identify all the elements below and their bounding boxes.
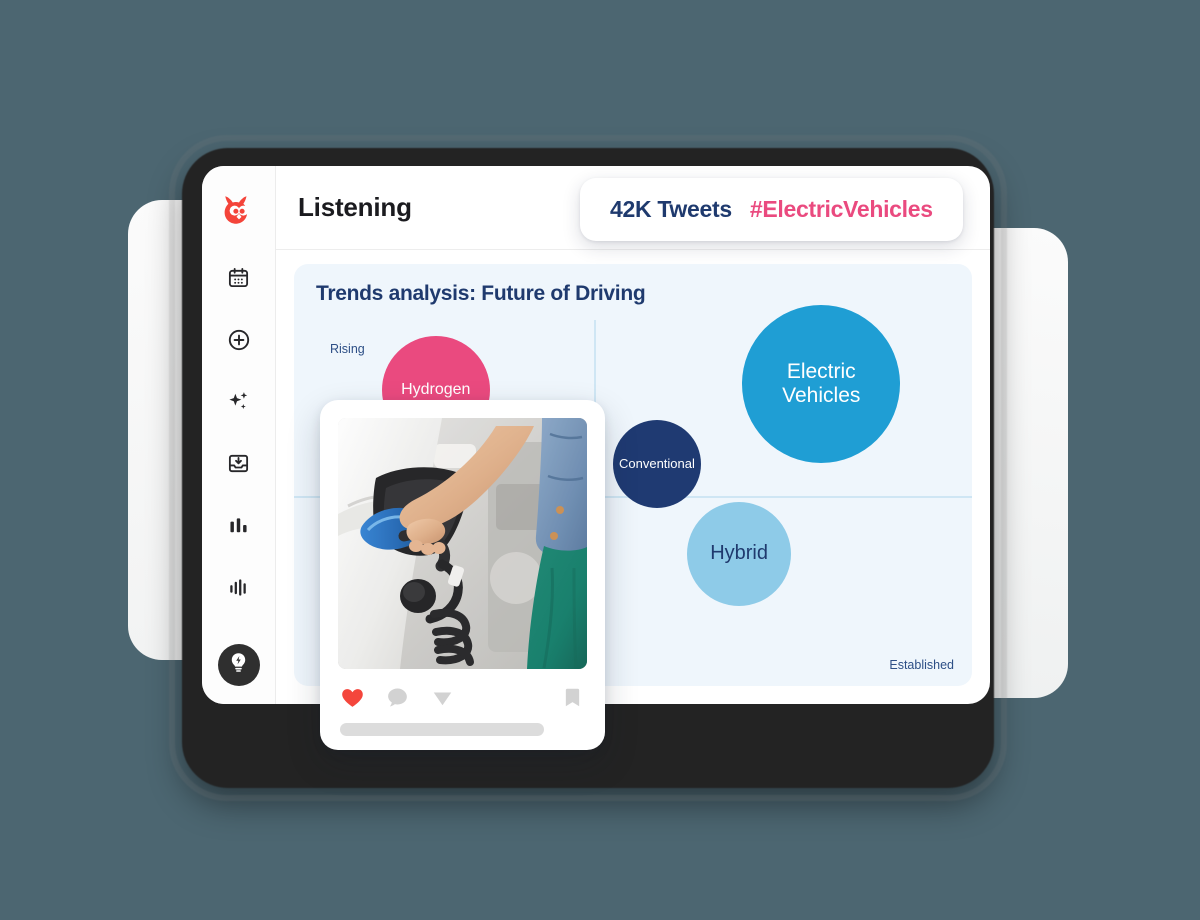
owl-logo-icon[interactable] bbox=[217, 188, 261, 232]
sidebar-item-analytics[interactable] bbox=[219, 508, 259, 548]
sidebar-nav-list bbox=[202, 260, 275, 686]
audio-bars-icon bbox=[227, 576, 250, 604]
scene: Listening Trends analysis: Future of Dri… bbox=[0, 0, 1200, 920]
post-caption-placeholder bbox=[340, 723, 544, 736]
plus-circle-icon bbox=[227, 328, 251, 357]
sidebar-item-inbox[interactable] bbox=[219, 446, 259, 486]
bubble-hybrid[interactable]: Hybrid bbox=[687, 502, 791, 606]
calendar-icon bbox=[227, 266, 250, 294]
bubble-label: Electric Vehicles bbox=[748, 360, 894, 407]
sidebar-item-calendar[interactable] bbox=[219, 260, 259, 300]
hashtag-label: #ElectricVehicles bbox=[750, 196, 933, 223]
sidebar-item-create[interactable] bbox=[219, 322, 259, 362]
sparkles-icon bbox=[226, 389, 251, 419]
comment-icon[interactable] bbox=[385, 685, 410, 710]
lightbulb-bolt-icon bbox=[227, 651, 250, 679]
sidebar-item-insights[interactable] bbox=[218, 644, 260, 686]
quadrant-label-rising: Rising bbox=[330, 342, 365, 356]
share-icon[interactable] bbox=[430, 685, 455, 710]
bar-chart-icon bbox=[227, 514, 250, 542]
inbox-download-icon bbox=[227, 452, 250, 480]
bubble-label: Hybrid bbox=[710, 542, 768, 564]
heart-icon[interactable] bbox=[340, 685, 365, 710]
tweet-count-label: 42K Tweets bbox=[610, 196, 732, 223]
bubble-label: Hydrogen bbox=[401, 381, 470, 399]
tweet-stat-badge[interactable]: 42K Tweets #ElectricVehicles bbox=[580, 178, 963, 241]
bubble-electric-vehicles[interactable]: Electric Vehicles bbox=[742, 305, 900, 463]
page-title: Listening bbox=[298, 192, 412, 223]
sidebar-item-ai-assist[interactable] bbox=[219, 384, 259, 424]
sidebar-item-listening[interactable] bbox=[219, 570, 259, 610]
sidebar bbox=[202, 166, 276, 704]
bookmark-icon[interactable] bbox=[560, 685, 585, 710]
post-actions bbox=[338, 669, 587, 710]
quadrant-label-established: Established bbox=[889, 658, 954, 672]
chart-title: Trends analysis: Future of Driving bbox=[316, 282, 645, 306]
bubble-label: Conventional bbox=[619, 457, 695, 472]
post-photo bbox=[338, 418, 587, 669]
social-post-card[interactable] bbox=[320, 400, 605, 750]
bubble-conventional[interactable]: Conventional bbox=[613, 420, 701, 508]
